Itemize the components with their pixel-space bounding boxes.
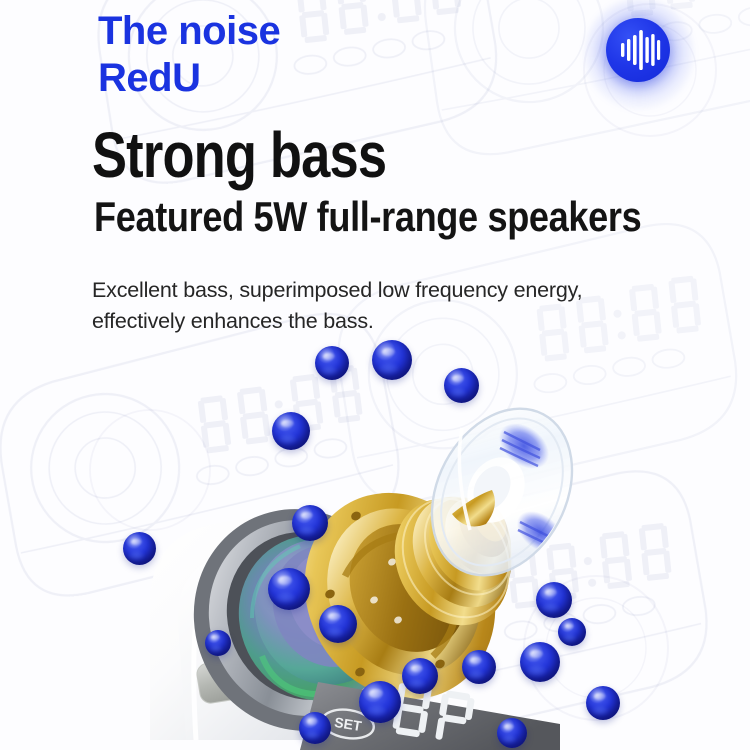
blue-bead bbox=[586, 686, 620, 720]
blue-bead bbox=[497, 718, 527, 748]
product-image: SET bbox=[0, 300, 750, 750]
blue-bead bbox=[536, 582, 572, 618]
blue-bead bbox=[520, 642, 560, 682]
audio-badge bbox=[606, 18, 670, 82]
eyebrow-line-1: The noise bbox=[98, 9, 280, 53]
badge-circle bbox=[606, 18, 670, 82]
blue-bead bbox=[372, 340, 412, 380]
blue-bead-layer bbox=[0, 300, 750, 750]
blue-bead bbox=[268, 568, 310, 610]
audio-waveform-icon bbox=[606, 18, 670, 82]
marketing-banner: The noise RedU Strong bass Featured 5W f… bbox=[0, 0, 750, 750]
description-paragraph: Excellent bass, superimposed low frequen… bbox=[92, 275, 692, 336]
blue-bead bbox=[444, 368, 479, 403]
blue-bead bbox=[123, 532, 156, 565]
page-title: Strong bass bbox=[92, 124, 386, 187]
blue-bead bbox=[319, 605, 357, 643]
eyebrow-heading: The noise RedU bbox=[98, 8, 498, 102]
blue-bead bbox=[359, 681, 401, 723]
description-line-1: Excellent bass, superimposed low frequen… bbox=[92, 275, 692, 306]
blue-bead bbox=[272, 412, 310, 450]
subtitle: Featured 5W full-range speakers bbox=[94, 196, 641, 238]
blue-bead bbox=[299, 712, 331, 744]
blue-bead bbox=[402, 658, 438, 694]
eyebrow-line-2: RedU bbox=[98, 55, 498, 102]
blue-bead bbox=[462, 650, 496, 684]
blue-bead bbox=[205, 630, 231, 656]
description-line-2: effectively enhances the bass. bbox=[92, 306, 692, 337]
blue-bead bbox=[292, 505, 328, 541]
blue-bead bbox=[558, 618, 586, 646]
blue-bead bbox=[315, 346, 349, 380]
